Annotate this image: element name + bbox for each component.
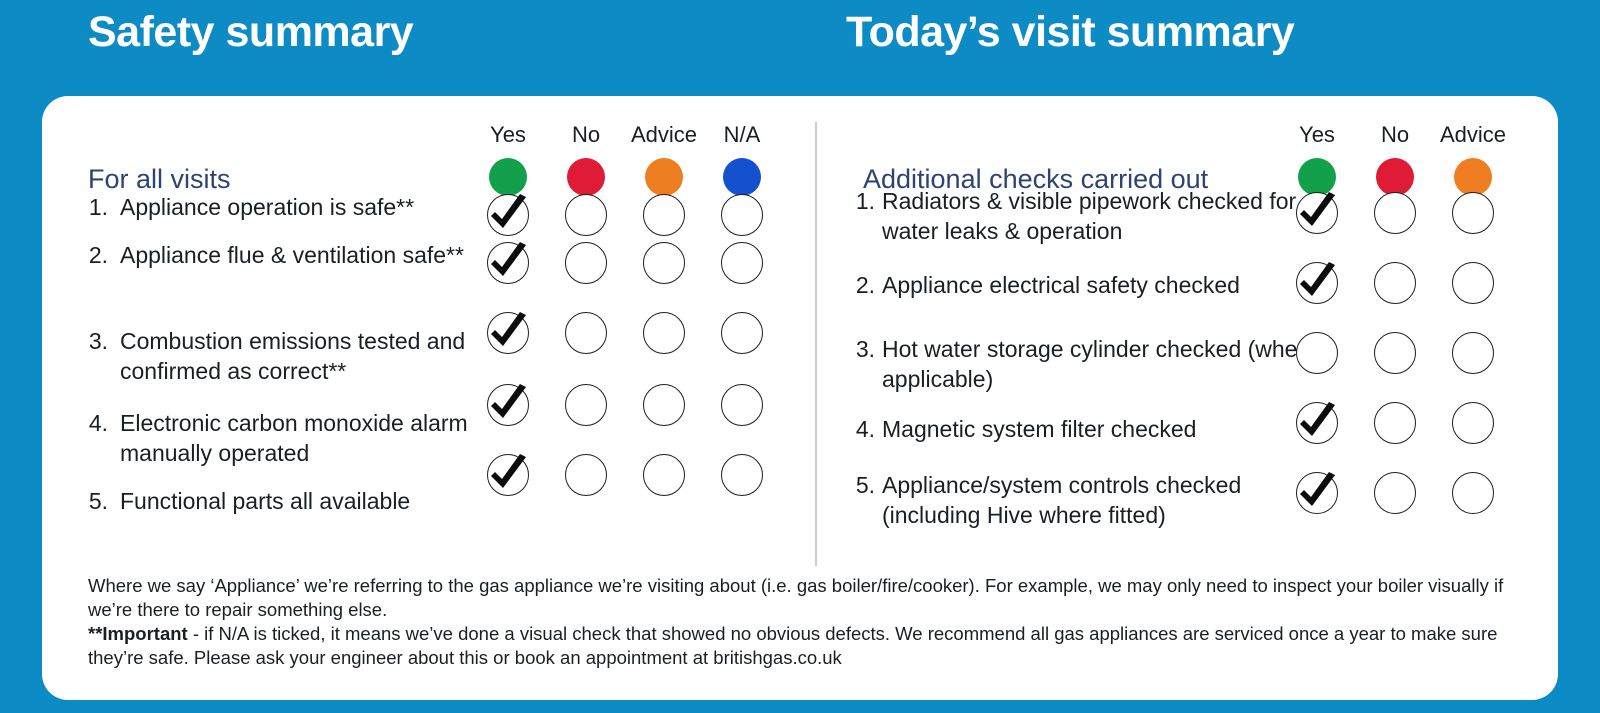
tick-icon bbox=[482, 305, 536, 359]
checklist-row-number: 3. bbox=[853, 334, 875, 364]
footnote-important: **Important - if N/A is ticked, it means… bbox=[88, 622, 1518, 670]
column-header-advice: Advice bbox=[1425, 122, 1521, 196]
checkbox-circle-empty[interactable] bbox=[1452, 332, 1494, 374]
checkbox-circle-empty[interactable] bbox=[565, 194, 607, 236]
checklist-row-number: 2. bbox=[82, 240, 108, 270]
checklist-row-number: 2. bbox=[853, 270, 875, 300]
checklist-row-number: 3. bbox=[82, 326, 108, 356]
checkbox-circle-empty[interactable] bbox=[1296, 332, 1338, 374]
advice-dot-icon bbox=[645, 158, 683, 196]
checkbox-circle-ticked[interactable] bbox=[487, 384, 529, 426]
na-dot-icon bbox=[723, 158, 761, 196]
footnote-appliance-definition: Where we say ‘Appliance’ we’re referring… bbox=[88, 574, 1518, 622]
page-title-safety-summary: Safety summary bbox=[88, 8, 413, 57]
checkbox-advice[interactable] bbox=[1425, 262, 1521, 304]
checkbox-circle-empty[interactable] bbox=[1452, 192, 1494, 234]
checkbox-circle-empty[interactable] bbox=[643, 454, 685, 496]
checkbox-circle-empty[interactable] bbox=[565, 312, 607, 354]
checkbox-circle-ticked[interactable] bbox=[487, 454, 529, 496]
checkbox-circle-empty[interactable] bbox=[643, 194, 685, 236]
summary-card: For all visits YesNoAdviceN/A 1.Applianc… bbox=[42, 96, 1558, 700]
checklist-row-text: 2.Appliance flue & ventilation safe** bbox=[82, 240, 482, 270]
footnotes: Where we say ‘Appliance’ we’re referring… bbox=[88, 574, 1518, 670]
checkbox-circle-empty[interactable] bbox=[1374, 262, 1416, 304]
checklist-row-text: 4.Magnetic system filter checked bbox=[853, 414, 1323, 444]
checkbox-circle-empty[interactable] bbox=[643, 242, 685, 284]
tick-icon bbox=[482, 235, 536, 289]
checklist-row-number: 1. bbox=[853, 186, 875, 216]
advice-dot-icon bbox=[1454, 158, 1492, 196]
checkbox-circle-empty[interactable] bbox=[643, 384, 685, 426]
checkbox-advice[interactable] bbox=[1425, 402, 1521, 444]
tick-icon bbox=[1291, 395, 1345, 449]
checklist-row-label: Appliance flue & ventilation safe** bbox=[120, 240, 482, 270]
checkbox-advice[interactable] bbox=[1425, 192, 1521, 234]
checklist-row-number: 5. bbox=[82, 486, 108, 516]
checkbox-advice[interactable] bbox=[1425, 472, 1521, 514]
checkbox-circle-empty[interactable] bbox=[565, 454, 607, 496]
checkbox-circle-ticked[interactable] bbox=[487, 242, 529, 284]
checkbox-circle-empty[interactable] bbox=[721, 384, 763, 426]
checklist-row-text: 3.Hot water storage cylinder checked (wh… bbox=[853, 334, 1323, 394]
checkbox-circle-ticked[interactable] bbox=[1296, 402, 1338, 444]
checklist-row-text: 4.Electronic carbon monoxide alarm manua… bbox=[82, 408, 482, 468]
checkbox-circle-ticked[interactable] bbox=[487, 312, 529, 354]
checkbox-circle-empty[interactable] bbox=[643, 312, 685, 354]
checkbox-n-a[interactable] bbox=[694, 454, 790, 496]
checkbox-circle-ticked[interactable] bbox=[487, 194, 529, 236]
page-headings: Safety summary Today’s visit summary bbox=[0, 0, 1600, 96]
checkbox-circle-empty[interactable] bbox=[565, 384, 607, 426]
checklist-row-label: Electronic carbon monoxide alarm manuall… bbox=[120, 408, 482, 468]
checkbox-circle-empty[interactable] bbox=[721, 194, 763, 236]
tick-icon bbox=[1291, 255, 1345, 309]
checklist-row-number: 5. bbox=[853, 470, 875, 500]
checkbox-circle-empty[interactable] bbox=[721, 454, 763, 496]
checkbox-circle-empty[interactable] bbox=[1452, 262, 1494, 304]
checkbox-n-a[interactable] bbox=[694, 242, 790, 284]
section-title-for-all-visits: For all visits bbox=[88, 164, 231, 195]
checklist-row-text: 2.Appliance electrical safety checked bbox=[853, 270, 1323, 300]
checkbox-circle-empty[interactable] bbox=[1452, 472, 1494, 514]
checklist-row-text: 5.Functional parts all available bbox=[82, 486, 482, 516]
checkbox-n-a[interactable] bbox=[694, 194, 790, 236]
checkbox-circle-empty[interactable] bbox=[565, 242, 607, 284]
footnote-important-text: - if N/A is ticked, it means we’ve done … bbox=[88, 623, 1497, 668]
checkbox-circle-empty[interactable] bbox=[1374, 402, 1416, 444]
checkbox-advice[interactable] bbox=[1425, 332, 1521, 374]
checkbox-circle-ticked[interactable] bbox=[1296, 472, 1338, 514]
checklist-row-label: Combustion emissions tested and confirme… bbox=[120, 326, 482, 386]
no-dot-icon bbox=[567, 158, 605, 196]
checklist-row-label: Appliance electrical safety checked bbox=[882, 270, 1323, 300]
tick-icon bbox=[482, 377, 536, 431]
checklist-row-number: 4. bbox=[82, 408, 108, 438]
tick-icon bbox=[1291, 185, 1345, 239]
yes-dot-icon bbox=[489, 158, 527, 196]
checklist-row-label: Appliance/system controls checked (inclu… bbox=[882, 470, 1323, 530]
checklist-row-label: Hot water storage cylinder checked (wher… bbox=[882, 334, 1323, 394]
checkbox-circle-empty[interactable] bbox=[1374, 472, 1416, 514]
checkbox-circle-empty[interactable] bbox=[721, 242, 763, 284]
checklist-row-text: 3.Combustion emissions tested and confir… bbox=[82, 326, 482, 386]
checkbox-circle-empty[interactable] bbox=[1374, 332, 1416, 374]
checklist-row-text: 1.Appliance operation is safe** bbox=[82, 192, 482, 222]
tick-icon bbox=[482, 187, 536, 241]
checklist-row-label: Appliance operation is safe** bbox=[120, 192, 482, 222]
checkbox-circle-ticked[interactable] bbox=[1296, 262, 1338, 304]
checklist-row-label: Radiators & visible pipework checked for… bbox=[882, 186, 1323, 246]
column-label: N/A bbox=[694, 122, 790, 148]
column-label: Advice bbox=[1425, 122, 1521, 148]
column-header-n-a: N/A bbox=[694, 122, 790, 196]
no-dot-icon bbox=[1376, 158, 1414, 196]
page-title-visit-summary: Today’s visit summary bbox=[846, 8, 1294, 57]
checkbox-circle-empty[interactable] bbox=[1452, 402, 1494, 444]
safety-summary-page: Safety summary Today’s visit summary For… bbox=[0, 0, 1600, 713]
panel-divider bbox=[815, 122, 817, 566]
checkbox-circle-empty[interactable] bbox=[721, 312, 763, 354]
checkbox-n-a[interactable] bbox=[694, 312, 790, 354]
checklist-row-text: 5.Appliance/system controls checked (inc… bbox=[853, 470, 1323, 530]
checklist-row-number: 4. bbox=[853, 414, 875, 444]
footnote-important-label: **Important bbox=[88, 623, 188, 644]
tick-icon bbox=[482, 447, 536, 501]
checkbox-circle-empty[interactable] bbox=[1374, 192, 1416, 234]
panels-container: For all visits YesNoAdviceN/A 1.Applianc… bbox=[42, 96, 1558, 566]
checklist-row-label: Magnetic system filter checked bbox=[882, 414, 1323, 444]
checkbox-n-a[interactable] bbox=[694, 384, 790, 426]
tick-icon bbox=[1291, 465, 1345, 519]
checklist-row-number: 1. bbox=[82, 192, 108, 222]
checklist-row-text: 1.Radiators & visible pipework checked f… bbox=[853, 186, 1323, 246]
checkbox-circle-ticked[interactable] bbox=[1296, 192, 1338, 234]
checklist-row-label: Functional parts all available bbox=[120, 486, 482, 516]
